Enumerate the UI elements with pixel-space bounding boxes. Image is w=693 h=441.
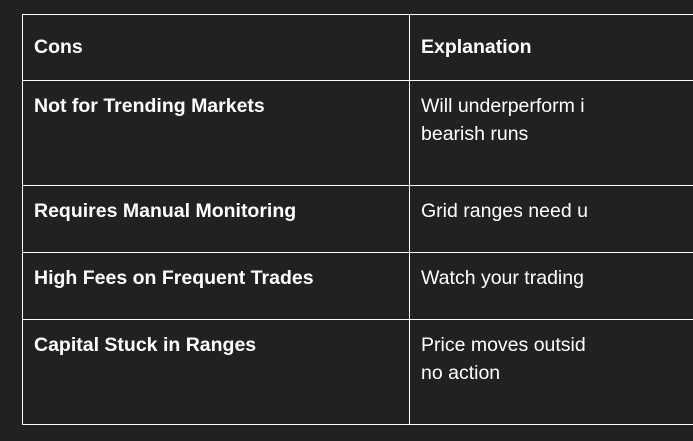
cell-con-title: High Fees on Frequent Trades — [23, 253, 410, 320]
cons-explanation-table: Cons Explanation Not for Trending Market… — [22, 14, 693, 425]
cell-con-title: Not for Trending Markets — [23, 81, 410, 186]
table-row: Requires Manual Monitoring Grid ranges n… — [23, 186, 693, 253]
cell-con-title: Capital Stuck in Ranges — [23, 320, 410, 425]
cell-con-explanation: Grid ranges need u — [410, 186, 693, 253]
table-header-row: Cons Explanation — [23, 15, 693, 81]
table-body: Not for Trending Markets Will underperfo… — [23, 81, 693, 425]
page-viewport: Cons Explanation Not for Trending Market… — [0, 0, 693, 441]
column-header-explanation: Explanation — [410, 15, 693, 81]
cell-con-explanation: Watch your trading — [410, 253, 693, 320]
table-row: Not for Trending Markets Will underperfo… — [23, 81, 693, 186]
table-row: High Fees on Frequent Trades Watch your … — [23, 253, 693, 320]
column-header-cons: Cons — [23, 15, 410, 81]
cell-con-explanation: Price moves outsid no action — [410, 320, 693, 425]
table-header: Cons Explanation — [23, 15, 693, 81]
cell-con-explanation: Will underperform i bearish runs — [410, 81, 693, 186]
cell-con-title: Requires Manual Monitoring — [23, 186, 410, 253]
table-row: Capital Stuck in Ranges Price moves outs… — [23, 320, 693, 425]
